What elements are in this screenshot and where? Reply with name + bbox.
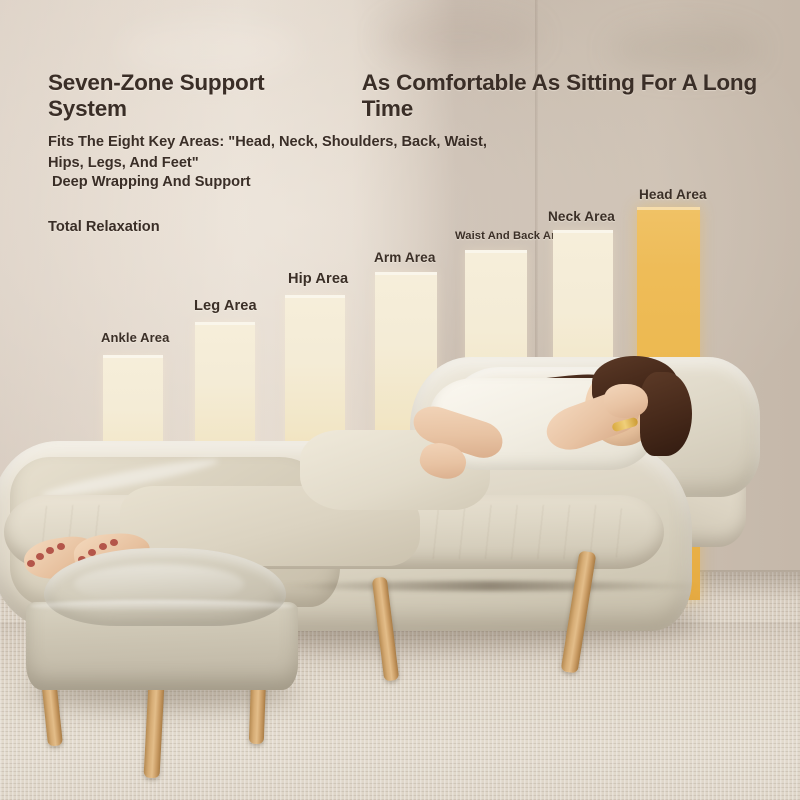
ottoman-cushion-lip	[30, 600, 294, 612]
ottoman-cushion-crease	[74, 564, 244, 604]
person-hand-under-cheek	[604, 384, 648, 418]
copy-deep-wrapping: Deep Wrapping And Support	[52, 173, 251, 192]
ottoman-footstool	[18, 548, 304, 698]
copy-total-relaxation: Total Relaxation	[48, 219, 160, 235]
headline-row: Seven-Zone Support System As Comfortable…	[48, 70, 800, 122]
product-infographic: Ankle Area Leg Area Hip Area Arm Area Wa…	[0, 0, 800, 800]
toenail	[110, 539, 118, 546]
hair-side	[640, 372, 692, 456]
page-title: Seven-Zone Support System	[48, 70, 340, 122]
page-subtitle: As Comfortable As Sitting For A Long Tim…	[362, 70, 800, 122]
copy-key-areas: Fits The Eight Key Areas: "Head, Neck, S…	[48, 132, 518, 174]
